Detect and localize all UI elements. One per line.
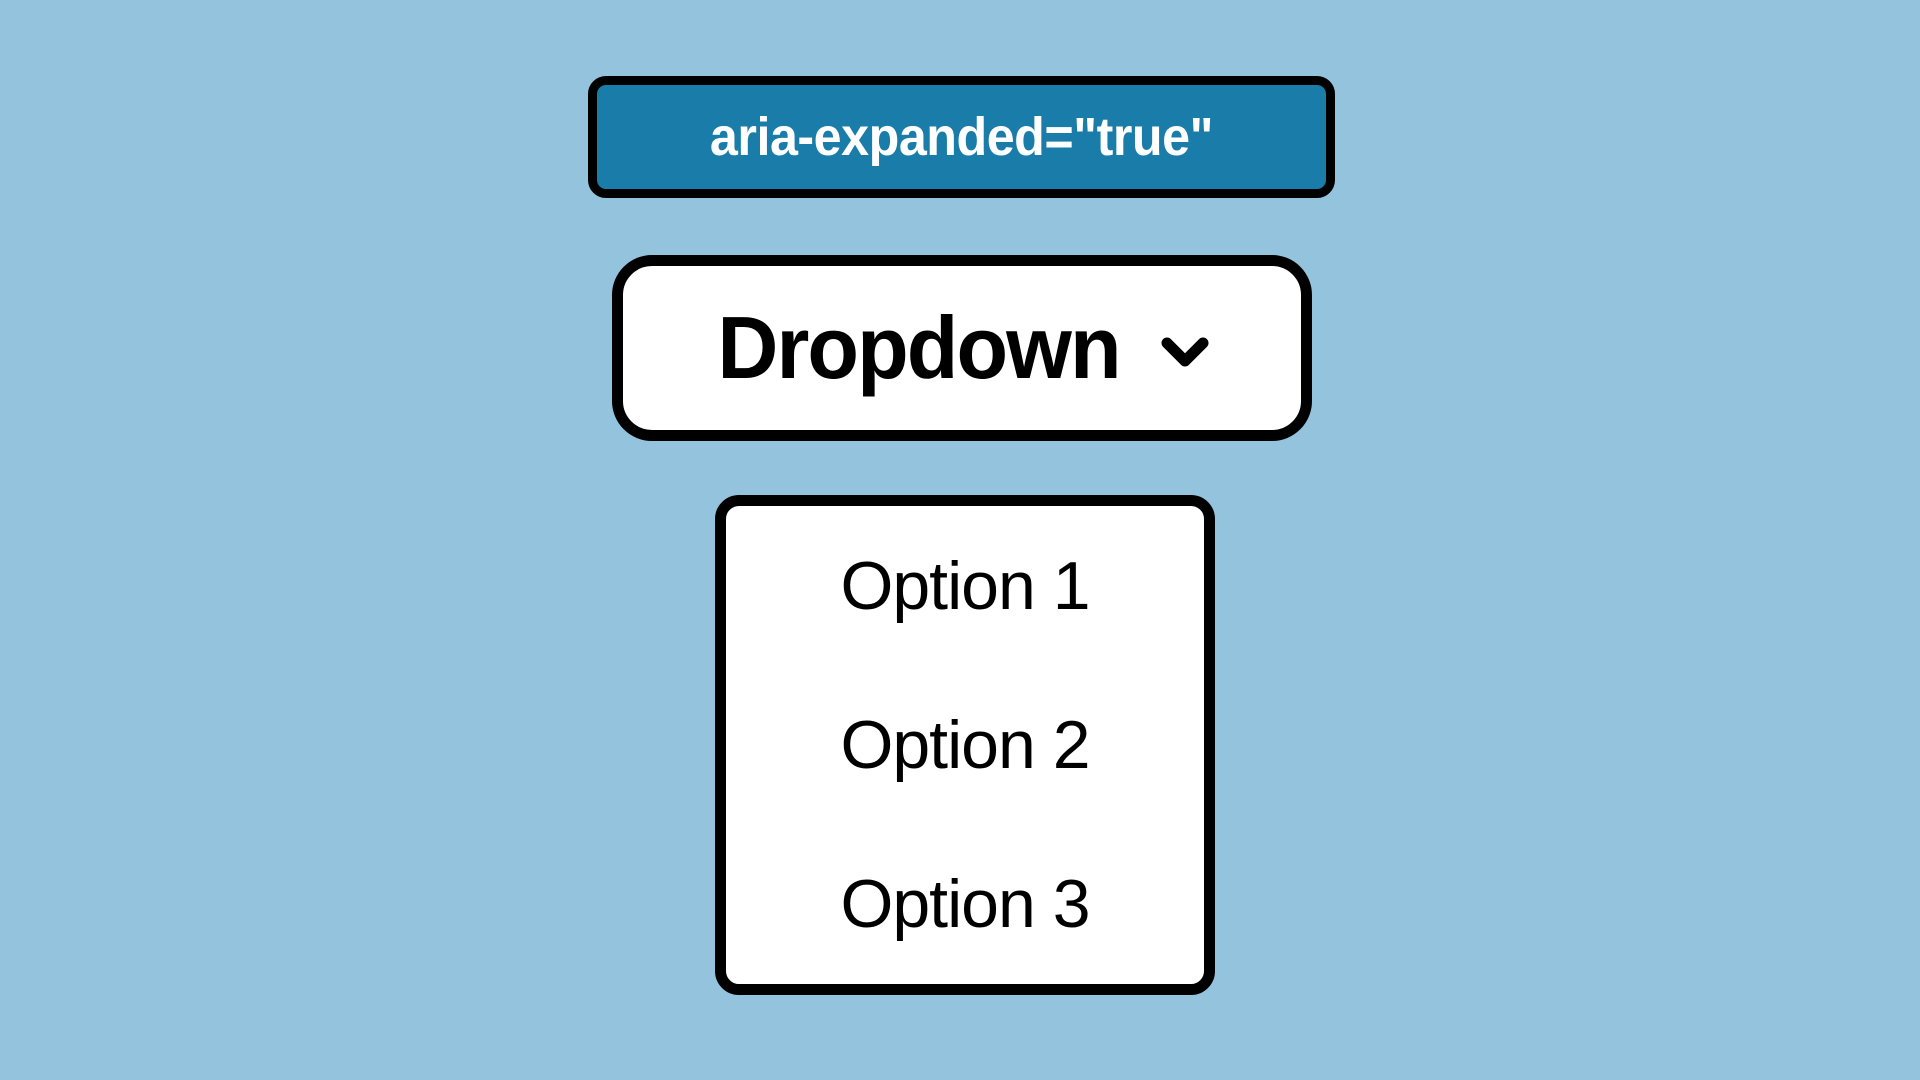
dropdown-trigger-label: Dropdown: [718, 304, 1120, 392]
dropdown-trigger-button[interactable]: Dropdown: [612, 255, 1312, 441]
illustration-canvas: aria-expanded="true" Dropdown Option 1 O…: [0, 0, 1920, 1080]
aria-expanded-badge-label: aria-expanded="true": [710, 110, 1213, 164]
dropdown-option-3[interactable]: Option 3: [726, 825, 1204, 984]
aria-expanded-badge: aria-expanded="true": [588, 76, 1335, 198]
dropdown-option-1[interactable]: Option 1: [726, 506, 1204, 665]
dropdown-option-1-label: Option 1: [840, 552, 1089, 620]
dropdown-option-2-label: Option 2: [840, 711, 1089, 779]
dropdown-option-2[interactable]: Option 2: [726, 665, 1204, 824]
chevron-down-icon: [1155, 321, 1215, 381]
dropdown-option-3-label: Option 3: [840, 870, 1089, 938]
dropdown-options-panel: Option 1 Option 2 Option 3: [715, 495, 1215, 995]
